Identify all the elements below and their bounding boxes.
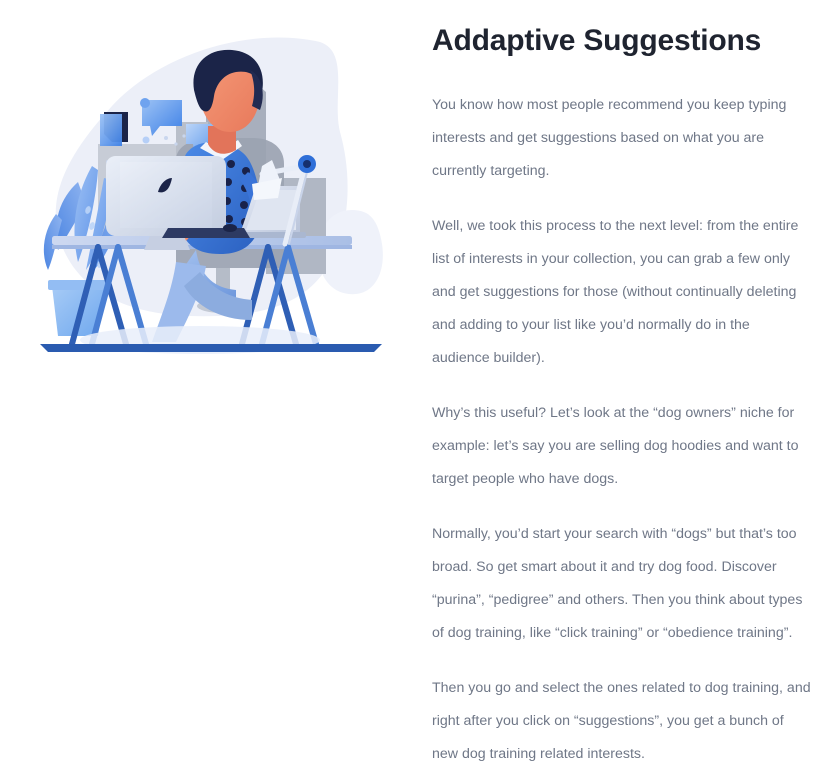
- body-paragraph: Why’s this useful? Let’s look at the “do…: [432, 397, 811, 496]
- illustration-pane: [0, 0, 420, 548]
- body-paragraph: You know how most people recommend you k…: [432, 89, 811, 188]
- article-page: Addaptive Suggestions You know how most …: [0, 0, 839, 548]
- person-working-at-desk-illustration: [0, 14, 420, 364]
- body-paragraph: Well, we took this process to the next l…: [432, 210, 811, 375]
- article-body: You know how most people recommend you k…: [432, 89, 811, 771]
- page-title: Addaptive Suggestions: [432, 22, 811, 60]
- body-paragraph: Normally, you’d start your search with “…: [432, 518, 811, 650]
- body-paragraph: Then you go and select the ones related …: [432, 672, 811, 771]
- article-content: Addaptive Suggestions You know how most …: [420, 0, 839, 771]
